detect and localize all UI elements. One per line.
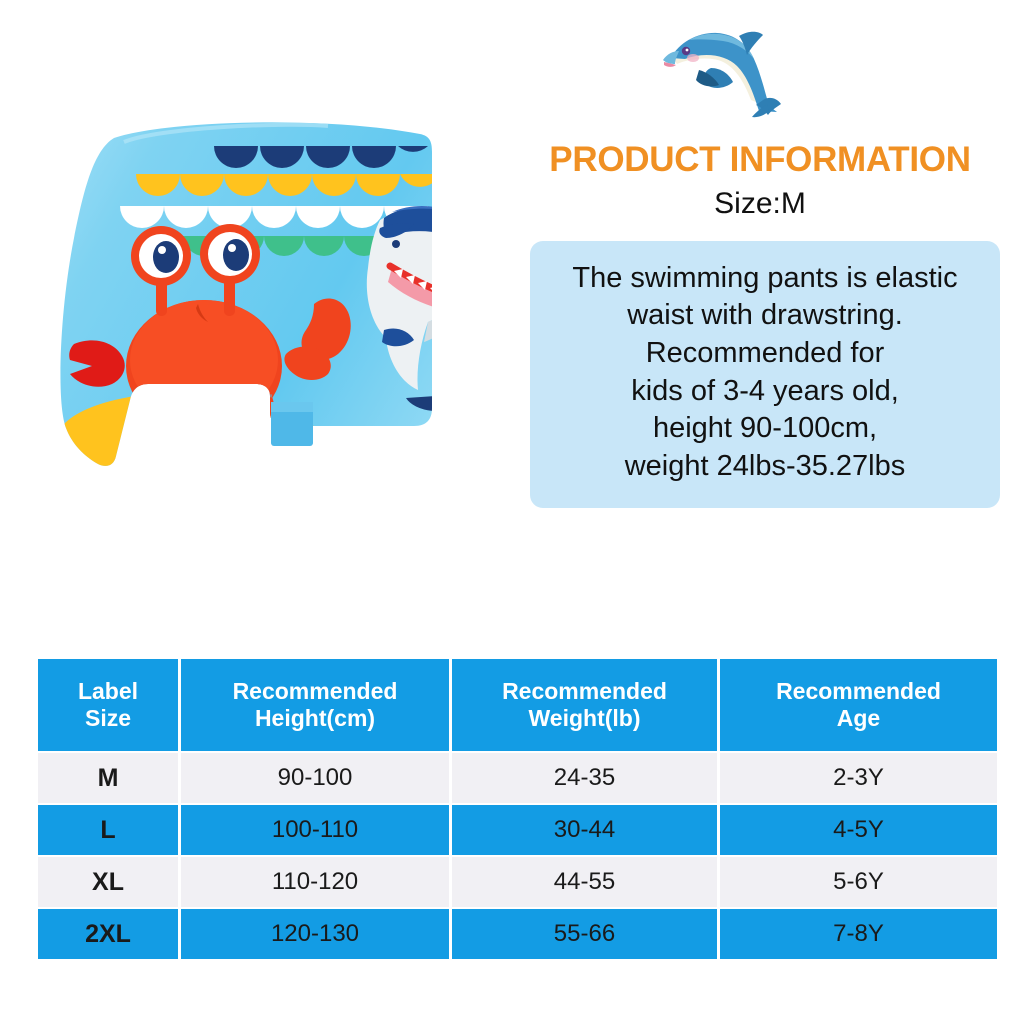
table-cell-weight: 55-66 [452, 909, 717, 959]
table-cell-age: 2-3Y [720, 753, 997, 803]
description-box: The swimming pants is elastic waist with… [530, 241, 1000, 508]
table-row: XL110-12044-555-6Y [38, 857, 997, 907]
column-header-recommended-age: Recommended Age [720, 659, 997, 751]
product-image-swim-shorts [28, 108, 498, 523]
table-cell-weight: 44-55 [452, 857, 717, 907]
column-header-label-size: Label Size [38, 659, 178, 751]
table-cell-size: XL [38, 857, 178, 907]
table-row: 2XL120-13055-667-8Y [38, 909, 997, 959]
table-cell-age: 5-6Y [720, 857, 997, 907]
column-header-recommended-weight: Recommended Weight(lb) [452, 659, 717, 751]
table-cell-size: M [38, 753, 178, 803]
description-text: The swimming pants is elastic waist with… [544, 260, 986, 486]
dolphin-icon [655, 14, 785, 118]
table-cell-height: 100-110 [181, 805, 449, 855]
table-cell-height: 110-120 [181, 857, 449, 907]
table-cell-size: L [38, 805, 178, 855]
table-cell-weight: 30-44 [452, 805, 717, 855]
table-cell-weight: 24-35 [452, 753, 717, 803]
page-title: PRODUCT INFORMATION [510, 140, 1010, 179]
table-cell-size: 2XL [38, 909, 178, 959]
table-row: M90-10024-352-3Y [38, 753, 997, 803]
table-cell-age: 7-8Y [720, 909, 997, 959]
table-cell-height: 90-100 [181, 753, 449, 803]
size-chart-table: Label Size Recommended Height(cm) Recomm… [35, 657, 1000, 961]
table-cell-age: 4-5Y [720, 805, 997, 855]
table-cell-height: 120-130 [181, 909, 449, 959]
shark-icon-secondary [390, 481, 477, 520]
table-header-row: Label Size Recommended Height(cm) Recomm… [38, 659, 997, 751]
table-row: L100-11030-444-5Y [38, 805, 997, 855]
column-header-recommended-height: Recommended Height(cm) [181, 659, 449, 751]
product-info-panel: PRODUCT INFORMATION Size:M The swimming … [510, 140, 1010, 508]
selected-size-label: Size:M [510, 187, 1010, 222]
